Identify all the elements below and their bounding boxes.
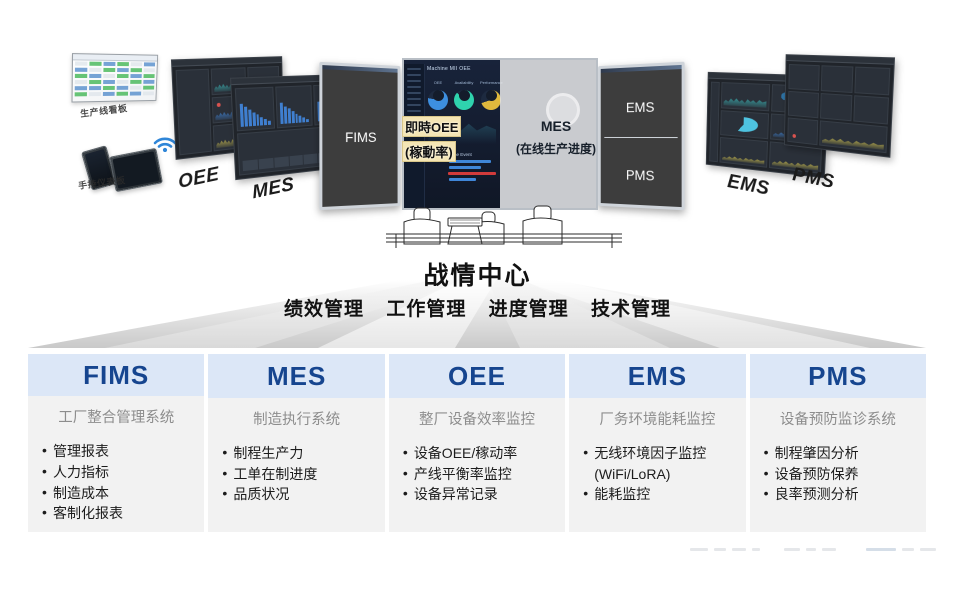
column-body-oee: 整厂设备效率监控 设备OEE/稼动率 产线平衡率监控 设备异常记录 [389,398,565,532]
column-bullets-oee: 设备OEE/稼动率 产线平衡率监控 设备异常记录 [403,443,551,505]
overlay-mes-line2: (在线生产进度) [500,140,612,157]
list-item: 制造成本 [42,483,190,504]
center-subitems: 绩效管理 工作管理 进度管理 技术管理 [0,294,955,321]
list-item: 品质状况 [222,484,370,505]
control-room-illustration [386,196,622,248]
overlay-oee-tag: 即時OEE (稼動率) [402,116,498,166]
production-line-board [71,53,158,102]
table-column-fims: FIMS 工厂整合管理系统 管理报表 人力指标 制造成本 客制化报表 [28,354,204,532]
column-body-ems: 厂务环境能耗监控 无线环境因子监控 (WiFi/LoRA) 能耗监控 [569,398,745,532]
angled-dashboard-pms-label: PMS [791,164,835,194]
video-wall: FIMS EMS PMS Machine MII OEE OEE [318,58,686,210]
list-item: 能耗监控 [583,484,731,505]
column-subtitle-ems: 厂务环境能耗监控 [583,408,731,429]
table-column-ems: EMS 厂务环境能耗监控 无线环境因子监控 (WiFi/LoRA) 能耗监控 [569,354,745,532]
list-item: 产线平衡率监控 [403,464,551,485]
column-header-ems: EMS [569,354,745,398]
list-item: 设备OEE/稼动率 [403,443,551,464]
column-subtitle-oee: 整厂设备效率监控 [403,408,551,429]
center-title: 战情中心 [0,256,955,292]
column-subtitle-pms: 设备预防监诊系统 [764,408,912,429]
overlay-oee-line2: (稼動率) [402,141,456,162]
overlay-mes-line1: MES [500,118,612,134]
list-item: 人力指标 [42,462,190,483]
angled-dashboard-oee-label: OEE [177,164,220,195]
column-body-pms: 设备预防监诊系统 制程肇因分析 设备预防保养 良率预测分析 [750,398,926,532]
center-item-0: 绩效管理 [284,299,364,320]
antenna-left-icon [88,53,90,54]
list-item-continuation: (WiFi/LoRA) [583,464,731,485]
infographic-root: 生产线看板 手持仪表板 OEE [0,0,955,600]
angled-dashboard-mes-label: MES [251,174,295,205]
wall-panel-divider [604,137,677,138]
wall-panel-fims-label: FIMS [322,129,397,145]
column-subtitle-fims: 工厂整合管理系统 [42,406,190,427]
gauge-oee: OEE [428,80,448,110]
wall-panel-ems-label: EMS [601,98,682,116]
list-item: 工单在制进度 [222,464,370,485]
angled-dashboard-ems-label: EMS [726,171,770,201]
production-line-board-label: 生产线看板 [79,101,128,120]
list-item: 管理报表 [42,441,190,462]
dashboard-title: Machine MII OEE [427,66,471,72]
wall-panel-pms-label: PMS [601,166,682,184]
column-body-mes: 制造执行系统 制程生产力 工单在制进度 品质状况 [208,398,384,532]
gauge-group: OEE Availability Performance [428,80,497,110]
gauge-availability: Availability [454,80,474,110]
faint-watermark [690,546,940,556]
list-item: 制程生产力 [222,443,370,464]
list-item: 设备预防保养 [764,464,912,485]
angled-dashboard-pms [784,54,895,158]
column-subtitle-mes: 制造执行系统 [222,408,370,429]
list-item: 设备异常记录 [403,484,551,505]
column-header-oee: OEE [389,354,565,398]
list-item: 无线环境因子监控 [583,443,731,464]
column-bullets-mes: 制程生产力 工单在制进度 品质状况 [222,443,370,505]
table-column-mes: MES 制造执行系统 制程生产力 工单在制进度 品质状况 [208,354,384,532]
systems-table: FIMS 工厂整合管理系统 管理报表 人力指标 制造成本 客制化报表 MES 制… [28,354,926,532]
column-header-fims: FIMS [28,354,204,396]
column-bullets-pms: 制程肇因分析 设备预防保养 良率预测分析 [764,443,912,505]
table-column-oee: OEE 整厂设备效率监控 设备OEE/稼动率 产线平衡率监控 设备异常记录 [389,354,565,532]
list-item: 良率预测分析 [764,484,912,505]
overlay-mes-tag: MES (在线生产进度) [500,118,612,157]
column-bullets-fims: 管理报表 人力指标 制造成本 客制化报表 [42,441,190,524]
column-header-pms: PMS [750,354,926,398]
center-item-3: 技术管理 [591,299,671,320]
list-item: 客制化报表 [42,503,190,524]
table-column-pms: PMS 设备预防监诊系统 制程肇因分析 设备预防保养 良率预测分析 [750,354,926,532]
column-bullets-ems: 无线环境因子监控 (WiFi/LoRA) 能耗监控 [583,443,731,505]
center-item-1: 工作管理 [386,299,466,320]
center-item-2: 进度管理 [489,299,569,320]
column-body-fims: 工厂整合管理系统 管理报表 人力指标 制造成本 客制化报表 [28,396,204,532]
wall-panel-fims: FIMS [319,62,400,210]
overlay-oee-line1: 即時OEE [402,116,461,137]
list-item: 制程肇因分析 [764,443,912,464]
column-header-mes: MES [208,354,384,398]
